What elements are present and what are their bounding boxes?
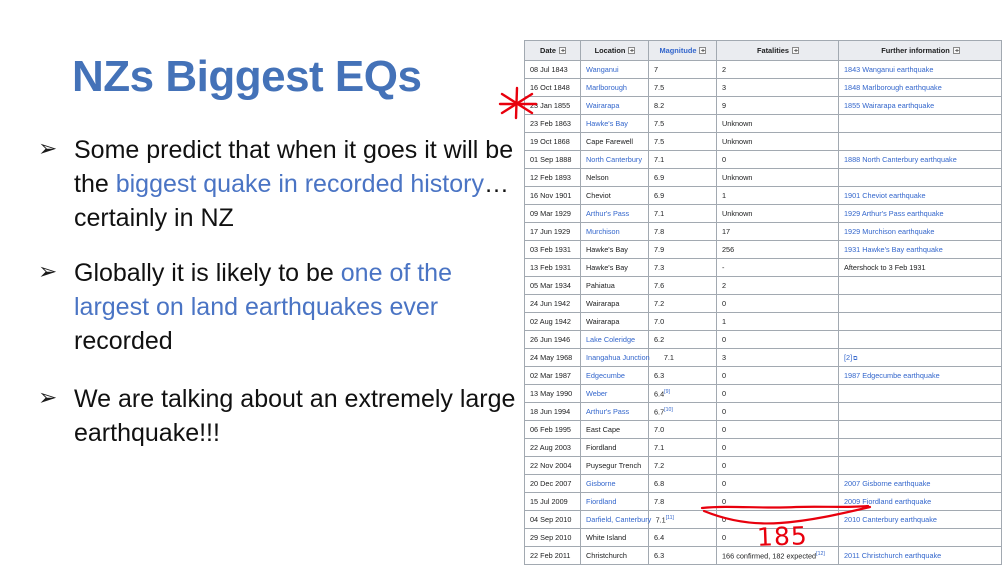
cell-magnitude: 7.1 <box>649 151 717 169</box>
table-row: 17 Jun 1929Murchison7.8171929 Murchison … <box>525 223 1002 241</box>
cell-date: 19 Oct 1868 <box>525 133 581 151</box>
cell-fatalities: 3 <box>717 79 839 97</box>
cell-further-information <box>839 403 1002 421</box>
cell-further-information[interactable]: 1888 North Canterbury earthquake <box>839 151 1002 169</box>
table-row: 01 Sep 1888North Canterbury7.101888 Nort… <box>525 151 1002 169</box>
fatalities-value: Unknown <box>722 119 752 128</box>
fatalities-value: Unknown <box>722 173 752 182</box>
cell-magnitude: 7.5 <box>649 79 717 97</box>
table-header: DateLocationMagnitudeFatalitiesFurther i… <box>525 41 1002 61</box>
fatalities-value: 0 <box>722 443 726 452</box>
cell-fatalities: 0 <box>717 475 839 493</box>
fatalities-value: 0 <box>722 479 726 488</box>
cell-further-information[interactable]: 1929 Murchison earthquake <box>839 223 1002 241</box>
table-body: 08 Jul 1843Wanganui721843 Wanganui earth… <box>525 61 1002 565</box>
table-row: 05 Mar 1934Pahiatua7.62 <box>525 277 1002 295</box>
cell-further-information <box>839 385 1002 403</box>
bullet-arrow-icon: ➢ <box>38 255 57 289</box>
location-text: Nelson <box>586 173 609 182</box>
cell-magnitude: 8.2 <box>649 97 717 115</box>
table-header-row: DateLocationMagnitudeFatalitiesFurther i… <box>525 41 1002 61</box>
fatalities-value: 0 <box>722 533 726 542</box>
location-link[interactable]: Arthur's Pass <box>586 209 629 218</box>
cell-magnitude: 6.4 <box>649 529 717 547</box>
cell-date: 08 Jul 1843 <box>525 61 581 79</box>
cell-magnitude: 6.8 <box>649 475 717 493</box>
magnitude-value: 6.2 <box>654 335 664 344</box>
list-item: ➢ We are talking about an extremely larg… <box>26 382 526 450</box>
cell-date: 16 Oct 1848 <box>525 79 581 97</box>
further-info-link[interactable]: [2] <box>844 353 852 362</box>
table-row: 02 Mar 1987Edgecumbe6.301987 Edgecumbe e… <box>525 367 1002 385</box>
footnote-reference[interactable]: [10] <box>664 407 673 413</box>
cell-magnitude: 7.1 <box>649 205 717 223</box>
magnitude-value: 6.9 <box>654 173 664 182</box>
list-item: ➢ Globally it is likely to be one of the… <box>26 256 526 358</box>
table-row: 06 Feb 1995East Cape7.00 <box>525 421 1002 439</box>
cell-fatalities: 0 <box>717 295 839 313</box>
footnote-reference[interactable]: [9] <box>664 389 670 395</box>
further-info-link[interactable]: 1843 Wanganui earthquake <box>844 65 933 74</box>
table-row: 18 Jun 1994Arthur's Pass6.7[10]0 <box>525 403 1002 421</box>
cell-date: 23 Jan 1855 <box>525 97 581 115</box>
cell-further-information <box>839 331 1002 349</box>
cell-date: 05 Mar 1934 <box>525 277 581 295</box>
bullet-arrow-icon: ➢ <box>38 132 57 166</box>
magnitude-value: 6.3 <box>654 371 664 380</box>
cell-magnitude: 6.2 <box>649 331 717 349</box>
cell-date: 02 Mar 1987 <box>525 367 581 385</box>
cell-magnitude: 7.1 <box>649 349 717 367</box>
table-row: 13 May 1990Weber6.4[9]0 <box>525 385 1002 403</box>
cell-location: Nelson <box>581 169 649 187</box>
table-row: 23 Jan 1855Wairarapa8.291855 Wairarapa e… <box>525 97 1002 115</box>
cell-magnitude: 7.3 <box>649 259 717 277</box>
magnitude-value: 7 <box>654 65 658 74</box>
further-info-link[interactable]: 1855 Wairarapa earthquake <box>844 101 934 110</box>
cell-date: 13 May 1990 <box>525 385 581 403</box>
column-header-label: Location <box>595 46 626 55</box>
location-text: Pahiatua <box>586 281 615 290</box>
cell-date: 12 Feb 1893 <box>525 169 581 187</box>
cell-magnitude: 7.5 <box>649 115 717 133</box>
magnitude-value: 7.1 <box>654 443 664 452</box>
magnitude-value: 7.8 <box>654 227 664 236</box>
magnitude-value: 6.9 <box>654 191 664 200</box>
further-info-link[interactable]: 2011 Christchurch earthquake <box>844 551 941 560</box>
magnitude-value: 7.1 <box>656 515 666 524</box>
cell-fatalities: 256 <box>717 241 839 259</box>
cell-fatalities: 0 <box>717 439 839 457</box>
cell-further-information[interactable]: 1848 Marlborough earthquake <box>839 79 1002 97</box>
cell-magnitude: 7.8 <box>649 223 717 241</box>
magnitude-value: 7.0 <box>654 425 664 434</box>
table-row: 20 Dec 2007Gisborne6.802007 Gisborne ear… <box>525 475 1002 493</box>
fatalities-value: 0 <box>722 335 726 344</box>
fatalities-value: 0 <box>722 461 726 470</box>
cell-magnitude: 7.1[11] <box>649 511 717 529</box>
further-info-link[interactable]: 2010 Canterbury earthquake <box>844 515 937 524</box>
fatalities-value: - <box>722 263 724 272</box>
cell-location: Wairarapa <box>581 313 649 331</box>
location-text: Wairarapa <box>586 317 619 326</box>
further-info-link[interactable]: 2009 Fiordland earthquake <box>844 497 931 506</box>
fatalities-value: 0 <box>722 371 726 380</box>
location-link[interactable]: Edgecumbe <box>586 371 625 380</box>
magnitude-value: 7.0 <box>654 317 664 326</box>
magnitude-value: 7.5 <box>654 119 664 128</box>
cell-location[interactable]: Arthur's Pass <box>581 205 649 223</box>
cell-further-information[interactable]: 1901 Cheviot earthquake <box>839 187 1002 205</box>
cell-date: 15 Jul 2009 <box>525 493 581 511</box>
table-row: 09 Mar 1929Arthur's Pass7.1Unknown1929 A… <box>525 205 1002 223</box>
cell-date: 02 Aug 1942 <box>525 313 581 331</box>
cell-further-information <box>839 313 1002 331</box>
cell-further-information[interactable]: 1987 Edgecumbe earthquake <box>839 367 1002 385</box>
cell-further-information[interactable]: 2007 Gisborne earthquake <box>839 475 1002 493</box>
fatalities-value: 3 <box>722 83 726 92</box>
cell-fatalities: Unknown <box>717 133 839 151</box>
cell-further-information[interactable]: 1929 Arthur's Pass earthquake <box>839 205 1002 223</box>
cell-fatalities: 0 <box>717 331 839 349</box>
table-row: 02 Aug 1942Wairarapa7.01 <box>525 313 1002 331</box>
magnitude-value: 8.2 <box>654 101 664 110</box>
location-text: White Island <box>586 533 626 542</box>
cell-further-information[interactable]: 2011 Christchurch earthquake <box>839 547 1002 565</box>
cell-date: 17 Jun 1929 <box>525 223 581 241</box>
cell-fatalities: 3 <box>717 349 839 367</box>
bullet-arrow-icon: ➢ <box>38 381 57 415</box>
cell-fatalities: 1 <box>717 187 839 205</box>
cell-location[interactable]: Weber <box>581 385 649 403</box>
fatalities-value: 0 <box>722 425 726 434</box>
magnitude-value: 7.1 <box>654 209 664 218</box>
cell-date: 26 Jun 1946 <box>525 331 581 349</box>
table-row: 26 Jun 1946Lake Coleridge6.20 <box>525 331 1002 349</box>
cell-fatalities: 2 <box>717 277 839 295</box>
location-link[interactable]: Fiordland <box>586 497 616 506</box>
location-text: Hawke's Bay <box>586 263 628 272</box>
cell-fatalities: 0 <box>717 421 839 439</box>
cell-location: Hawke's Bay <box>581 259 649 277</box>
cell-fatalities: 0 <box>717 403 839 421</box>
cell-magnitude: 6.7[10] <box>649 403 717 421</box>
fatalities-value: 2 <box>722 281 726 290</box>
cell-magnitude: 7.0 <box>649 313 717 331</box>
fatalities-value: 2 <box>722 65 726 74</box>
table-row: 22 Nov 2004Puysegur Trench7.20 <box>525 457 1002 475</box>
table-row: 16 Nov 1901Cheviot6.911901 Cheviot earth… <box>525 187 1002 205</box>
cell-date: 22 Aug 2003 <box>525 439 581 457</box>
table-row: 19 Oct 1868Cape Farewell7.5Unknown <box>525 133 1002 151</box>
cell-further-information <box>839 133 1002 151</box>
fatalities-value: 256 <box>722 245 734 254</box>
fatalities-value: 0 <box>722 299 726 308</box>
fatalities-value: 9 <box>722 101 726 110</box>
cell-location[interactable]: North Canterbury <box>581 151 649 169</box>
location-text: Cape Farewell <box>586 137 633 146</box>
cell-location[interactable]: Edgecumbe <box>581 367 649 385</box>
column-header-date[interactable]: Date <box>525 41 581 61</box>
magnitude-value: 6.3 <box>654 551 664 560</box>
location-link[interactable]: North Canterbury <box>586 155 642 164</box>
magnitude-value: 7.9 <box>654 245 664 254</box>
cell-location[interactable]: Murchison <box>581 223 649 241</box>
cell-further-information[interactable]: 1843 Wanganui earthquake <box>839 61 1002 79</box>
location-link[interactable]: Weber <box>586 389 607 398</box>
cell-further-information: Aftershock to 3 Feb 1931 <box>839 259 1002 277</box>
further-info-link[interactable]: 1848 Marlborough earthquake <box>844 83 942 92</box>
table-row: 15 Jul 2009Fiordland7.802009 Fiordland e… <box>525 493 1002 511</box>
column-header-location[interactable]: Location <box>581 41 649 61</box>
fatalities-value: 166 confirmed, 182 expected <box>722 551 816 560</box>
table-row: 22 Aug 2003Fiordland7.10 <box>525 439 1002 457</box>
bullet-segment-plain: Globally it is likely to be <box>74 259 341 287</box>
cell-location[interactable]: Arthur's Pass <box>581 403 649 421</box>
cell-date: 01 Sep 1888 <box>525 151 581 169</box>
cell-location: Hawke's Bay <box>581 241 649 259</box>
cell-magnitude: 6.9 <box>649 187 717 205</box>
cell-fatalities: Unknown <box>717 169 839 187</box>
location-link[interactable]: Darfield, Canterbury <box>586 515 651 524</box>
sort-icon[interactable] <box>628 47 635 54</box>
cell-fatalities: 17 <box>717 223 839 241</box>
cell-location: East Cape <box>581 421 649 439</box>
further-info-link[interactable]: 1888 North Canterbury earthquake <box>844 155 957 164</box>
magnitude-value: 7.2 <box>654 299 664 308</box>
bullet-segment-highlight: biggest quake in recorded history <box>116 170 484 198</box>
column-header-label: Further information <box>881 46 950 55</box>
further-info-link[interactable]: 1929 Murchison earthquake <box>844 227 934 236</box>
cell-location: Christchurch <box>581 547 649 565</box>
cell-date: 22 Nov 2004 <box>525 457 581 475</box>
cell-location: Puysegur Trench <box>581 457 649 475</box>
sort-icon[interactable] <box>559 47 566 54</box>
footnote-reference[interactable]: [11] <box>666 515 674 521</box>
cell-location[interactable]: Fiordland <box>581 493 649 511</box>
cell-date: 22 Feb 2011 <box>525 547 581 565</box>
cell-date: 09 Mar 1929 <box>525 205 581 223</box>
cell-date: 16 Nov 1901 <box>525 187 581 205</box>
column-header-further-information[interactable]: Further information <box>839 41 1002 61</box>
location-link[interactable]: Murchison <box>586 227 620 236</box>
cell-magnitude: 7.1 <box>649 439 717 457</box>
table-row: 24 Jun 1942Wairarapa7.20 <box>525 295 1002 313</box>
external-link-icon[interactable]: ⧉ <box>853 356 857 363</box>
cell-location[interactable]: Lake Coleridge <box>581 331 649 349</box>
cell-magnitude: 6.4[9] <box>649 385 717 403</box>
cell-fatalities: 1 <box>717 313 839 331</box>
location-text: Hawke's Bay <box>586 245 628 254</box>
location-text: East Cape <box>586 425 620 434</box>
fatalities-value: Unknown <box>722 137 752 146</box>
cell-magnitude: 7.5 <box>649 133 717 151</box>
slide-left-pane: NZs Biggest EQs ➢ Some predict that when… <box>0 0 520 565</box>
handwritten-number-annotation: 185 <box>757 521 809 552</box>
cell-fatalities: 0 <box>717 493 839 511</box>
location-link[interactable]: Inangahua Junction <box>586 353 650 362</box>
location-link[interactable]: Marlborough <box>586 83 627 92</box>
cell-date: 20 Dec 2007 <box>525 475 581 493</box>
column-header-label: Fatalities <box>757 46 789 55</box>
table-row: 13 Feb 1931Hawke's Bay7.3-Aftershock to … <box>525 259 1002 277</box>
cell-date: 04 Sep 2010 <box>525 511 581 529</box>
cell-location: Cape Farewell <box>581 133 649 151</box>
cell-further-information <box>839 277 1002 295</box>
cell-magnitude: 7.9 <box>649 241 717 259</box>
cell-further-information[interactable]: 2009 Fiordland earthquake <box>839 493 1002 511</box>
location-text: Puysegur Trench <box>586 461 641 470</box>
cell-location: Fiordland <box>581 439 649 457</box>
magnitude-value: 7.5 <box>654 137 664 146</box>
table-row: 12 Feb 1893Nelson6.9Unknown <box>525 169 1002 187</box>
list-item: ➢ Some predict that when it goes it will… <box>26 133 526 235</box>
fatalities-value: 0 <box>722 389 726 398</box>
location-link[interactable]: Wairarapa <box>586 101 619 110</box>
cell-further-information <box>839 115 1002 133</box>
bullet-text-1: Some predict that when it goes it will b… <box>74 136 513 232</box>
cell-magnitude: 7.0 <box>649 421 717 439</box>
table-row: 23 Feb 1863Hawke's Bay7.5Unknown <box>525 115 1002 133</box>
fatalities-value: Unknown <box>722 209 752 218</box>
cell-magnitude: 6.9 <box>649 169 717 187</box>
cell-location[interactable]: Wanganui <box>581 61 649 79</box>
further-info-link[interactable]: 2007 Gisborne earthquake <box>844 479 930 488</box>
cell-fatalities: - <box>717 259 839 277</box>
bullet-text-3: We are talking about an extremely large … <box>74 385 515 447</box>
location-text: Fiordland <box>586 443 616 452</box>
column-header-fatalities[interactable]: Fatalities <box>717 41 839 61</box>
cell-magnitude: 7.2 <box>649 295 717 313</box>
cell-further-information[interactable]: 1931 Hawke's Bay earthquake <box>839 241 1002 259</box>
further-info-link[interactable]: 1929 Arthur's Pass earthquake <box>844 209 944 218</box>
cell-magnitude: 6.3 <box>649 367 717 385</box>
magnitude-value: 7.1 <box>654 155 664 164</box>
cell-further-information[interactable]: [2]⧉ <box>839 349 1002 367</box>
cell-location: Cheviot <box>581 187 649 205</box>
cell-further-information <box>839 439 1002 457</box>
fatalities-value: 0 <box>722 407 726 416</box>
magnitude-value: 6.7 <box>654 407 664 416</box>
cell-fatalities: Unknown <box>717 205 839 223</box>
bullet-list: ➢ Some predict that when it goes it will… <box>26 133 526 471</box>
table-row: 08 Jul 1843Wanganui721843 Wanganui earth… <box>525 61 1002 79</box>
cell-fatalities: 0 <box>717 151 839 169</box>
cell-fatalities: 0 <box>717 385 839 403</box>
location-link[interactable]: Lake Coleridge <box>586 335 635 344</box>
cell-date: 24 May 1968 <box>525 349 581 367</box>
table-row: 16 Oct 1848Marlborough7.531848 Marlborou… <box>525 79 1002 97</box>
magnitude-value: 7.2 <box>654 461 664 470</box>
cell-fatalities: 9 <box>717 97 839 115</box>
magnitude-value: 7.6 <box>654 281 664 290</box>
magnitude-value: 6.4 <box>654 533 664 542</box>
fatalities-value: 0 <box>722 155 726 164</box>
magnitude-value: 7.3 <box>654 263 664 272</box>
cell-location[interactable]: Gisborne <box>581 475 649 493</box>
cell-further-information <box>839 169 1002 187</box>
fatalities-value: 1 <box>722 317 726 326</box>
cell-further-information <box>839 421 1002 439</box>
earthquake-table-container: DateLocationMagnitudeFatalitiesFurther i… <box>524 40 1001 565</box>
cell-further-information[interactable]: 2010 Canterbury earthquake <box>839 511 1002 529</box>
cell-location: Wairarapa <box>581 295 649 313</box>
cell-date: 13 Feb 1931 <box>525 259 581 277</box>
cell-location[interactable]: Inangahua Junction <box>581 349 649 367</box>
location-text: Christchurch <box>586 551 627 560</box>
bullet-text-2: Globally it is likely to be one of the l… <box>74 259 452 355</box>
sort-icon[interactable] <box>953 47 960 54</box>
cell-fatalities: Unknown <box>717 115 839 133</box>
page-title: NZs Biggest EQs <box>72 52 421 102</box>
earthquake-table: DateLocationMagnitudeFatalitiesFurther i… <box>524 40 1002 565</box>
cell-further-information <box>839 457 1002 475</box>
fatalities-value: 0 <box>722 497 726 506</box>
location-link[interactable]: Gisborne <box>586 479 616 488</box>
cell-location[interactable]: Darfield, Canterbury <box>581 511 649 529</box>
further-info-link[interactable]: 1931 Hawke's Bay earthquake <box>844 245 943 254</box>
cell-further-information <box>839 295 1002 313</box>
location-link[interactable]: Hawke's Bay <box>586 119 628 128</box>
cell-fatalities: 0 <box>717 457 839 475</box>
location-text: Cheviot <box>586 191 611 200</box>
cell-fatalities: 0 <box>717 367 839 385</box>
column-header-magnitude[interactable]: Magnitude <box>649 41 717 61</box>
fatalities-value: 17 <box>722 227 730 236</box>
further-info-link[interactable]: 1901 Cheviot earthquake <box>844 191 926 200</box>
magnitude-value: 6.4 <box>654 389 664 398</box>
magnitude-value: 6.8 <box>654 479 664 488</box>
magnitude-value: 7.8 <box>654 497 664 506</box>
table-row: 03 Feb 1931Hawke's Bay7.92561931 Hawke's… <box>525 241 1002 259</box>
cell-date: 06 Feb 1995 <box>525 421 581 439</box>
cell-fatalities: 2 <box>717 61 839 79</box>
fatalities-value: 3 <box>722 353 726 362</box>
further-info-link[interactable]: 1987 Edgecumbe earthquake <box>844 371 940 380</box>
cell-further-information <box>839 529 1002 547</box>
presentation-slide: NZs Biggest EQs ➢ Some predict that when… <box>0 0 1003 565</box>
sort-icon[interactable] <box>699 47 706 54</box>
location-link[interactable]: Wanganui <box>586 65 619 74</box>
cell-magnitude: 7 <box>649 61 717 79</box>
cell-location[interactable]: Wairarapa <box>581 97 649 115</box>
table-row: 24 May 1968Inangahua Junction7.13[2]⧉ <box>525 349 1002 367</box>
cell-date: 18 Jun 1994 <box>525 403 581 421</box>
column-header-label: Date <box>540 46 556 55</box>
magnitude-value: 7.5 <box>654 83 664 92</box>
cell-location[interactable]: Marlborough <box>581 79 649 97</box>
sort-icon[interactable] <box>792 47 799 54</box>
cell-magnitude: 7.8 <box>649 493 717 511</box>
fatalities-value: 0 <box>722 515 726 524</box>
cell-date: 23 Feb 1863 <box>525 115 581 133</box>
fatalities-value: 1 <box>722 191 726 200</box>
cell-location: White Island <box>581 529 649 547</box>
bullet-segment-plain: recorded <box>74 327 173 355</box>
footnote-reference[interactable]: [12] <box>816 551 825 557</box>
further-info-text: Aftershock to 3 Feb 1931 <box>844 263 926 272</box>
cell-location: Pahiatua <box>581 277 649 295</box>
location-text: Wairarapa <box>586 299 619 308</box>
cell-location[interactable]: Hawke's Bay <box>581 115 649 133</box>
location-link[interactable]: Arthur's Pass <box>586 407 629 416</box>
cell-date: 24 Jun 1942 <box>525 295 581 313</box>
cell-date: 29 Sep 2010 <box>525 529 581 547</box>
cell-magnitude: 6.3 <box>649 547 717 565</box>
cell-magnitude: 7.2 <box>649 457 717 475</box>
cell-date: 03 Feb 1931 <box>525 241 581 259</box>
cell-further-information[interactable]: 1855 Wairarapa earthquake <box>839 97 1002 115</box>
